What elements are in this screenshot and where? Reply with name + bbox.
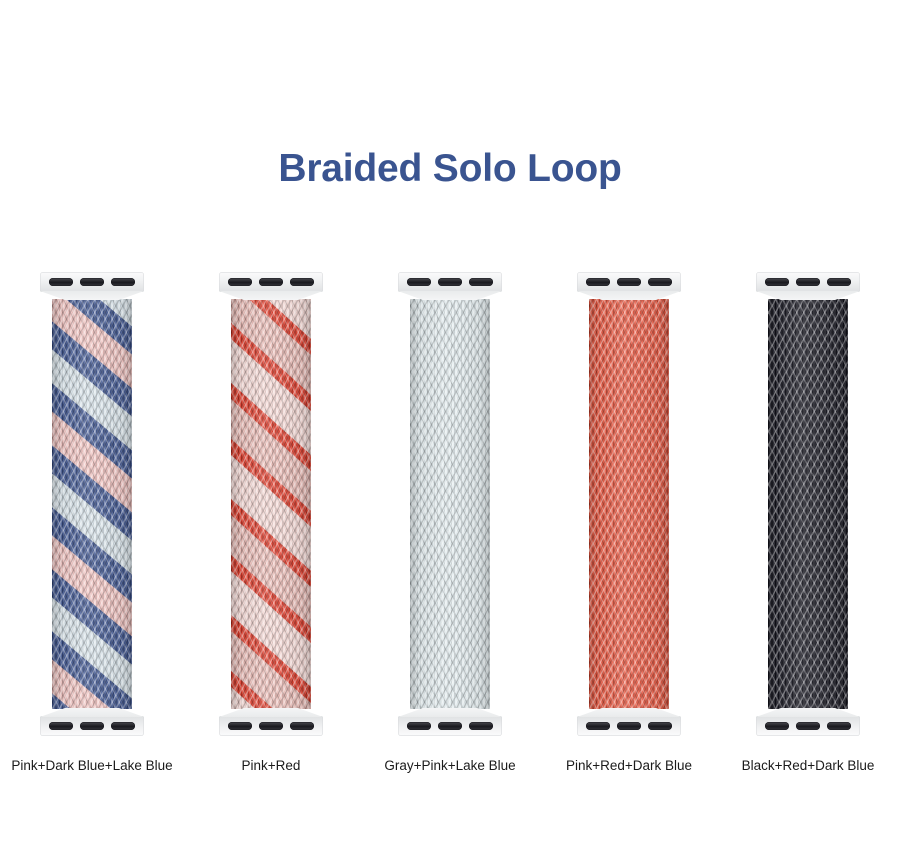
lug-slot-group bbox=[49, 722, 135, 730]
braid-color-field bbox=[410, 299, 490, 709]
product-card[interactable]: Black+Red+Dark Blue bbox=[722, 272, 894, 782]
band-lug-top bbox=[219, 272, 323, 299]
lug-skirt bbox=[40, 291, 144, 300]
braid-color-field bbox=[589, 299, 669, 709]
band-color-label: Pink+Red+Dark Blue bbox=[566, 758, 692, 775]
lug-slot-icon bbox=[407, 278, 431, 286]
lug-slot-group bbox=[765, 722, 851, 730]
lug-skirt bbox=[40, 708, 144, 717]
watch-band-4[interactable] bbox=[543, 272, 715, 736]
lug-slot-group bbox=[407, 722, 493, 730]
product-card[interactable]: Pink+Dark Blue+Lake Blue bbox=[6, 272, 178, 782]
braid-body bbox=[52, 299, 132, 709]
lug-slot-group bbox=[228, 278, 314, 286]
braid-color-field bbox=[52, 299, 132, 709]
braid-body bbox=[410, 299, 490, 709]
band-color-label: Pink+Red bbox=[242, 758, 301, 775]
product-card[interactable]: Pink+Red bbox=[185, 272, 357, 782]
band-lug-top bbox=[40, 272, 144, 299]
lug-skirt bbox=[219, 291, 323, 300]
lug-slot-icon bbox=[617, 722, 641, 730]
lug-skirt bbox=[398, 708, 502, 717]
lug-slot-icon bbox=[290, 722, 314, 730]
lug-skirt bbox=[756, 291, 860, 300]
product-card[interactable]: Pink+Red+Dark Blue bbox=[543, 272, 715, 782]
watch-band-3[interactable] bbox=[364, 272, 536, 736]
watch-band-2[interactable] bbox=[185, 272, 357, 736]
lug-slot-icon bbox=[827, 722, 851, 730]
lug-slot-group bbox=[765, 278, 851, 286]
band-lug-bottom bbox=[40, 709, 144, 736]
lug-slot-icon bbox=[111, 722, 135, 730]
lug-slot-icon bbox=[80, 722, 104, 730]
lug-slot-icon bbox=[228, 278, 252, 286]
band-lug-bottom bbox=[219, 709, 323, 736]
braid-color-field bbox=[231, 299, 311, 709]
lug-slot-icon bbox=[259, 278, 283, 286]
page-title: Braided Solo Loop bbox=[0, 148, 900, 191]
band-lug-top bbox=[577, 272, 681, 299]
lug-slot-icon bbox=[469, 722, 493, 730]
lug-slot-icon bbox=[438, 722, 462, 730]
lug-slot-icon bbox=[438, 278, 462, 286]
braid-body bbox=[589, 299, 669, 709]
lug-skirt bbox=[219, 708, 323, 717]
lug-slot-icon bbox=[648, 722, 672, 730]
band-lug-bottom bbox=[577, 709, 681, 736]
lug-slot-icon bbox=[796, 722, 820, 730]
lug-slot-group bbox=[586, 278, 672, 286]
lug-slot-icon bbox=[765, 722, 789, 730]
product-card[interactable]: Gray+Pink+Lake Blue bbox=[364, 272, 536, 782]
lug-slot-icon bbox=[49, 278, 73, 286]
lug-slot-icon bbox=[827, 278, 851, 286]
lug-slot-icon bbox=[648, 278, 672, 286]
band-lug-top bbox=[398, 272, 502, 299]
lug-skirt bbox=[577, 708, 681, 717]
braid-body bbox=[768, 299, 848, 709]
lug-slot-icon bbox=[765, 278, 789, 286]
band-lug-top bbox=[756, 272, 860, 299]
lug-slot-icon bbox=[259, 722, 283, 730]
lug-skirt bbox=[577, 291, 681, 300]
braid-body bbox=[231, 299, 311, 709]
lug-slot-icon bbox=[796, 278, 820, 286]
lug-slot-icon bbox=[617, 278, 641, 286]
lug-slot-icon bbox=[228, 722, 252, 730]
braid-color-field bbox=[768, 299, 848, 709]
band-lug-bottom bbox=[756, 709, 860, 736]
band-color-label: Black+Red+Dark Blue bbox=[742, 758, 875, 775]
lug-slot-group bbox=[407, 278, 493, 286]
band-color-label: Pink+Dark Blue+Lake Blue bbox=[11, 758, 172, 775]
watch-band-5[interactable] bbox=[722, 272, 894, 736]
lug-slot-icon bbox=[80, 278, 104, 286]
lug-slot-group bbox=[586, 722, 672, 730]
product-gallery: Pink+Dark Blue+Lake Blue bbox=[0, 272, 900, 782]
band-lug-bottom bbox=[398, 709, 502, 736]
band-color-label: Gray+Pink+Lake Blue bbox=[384, 758, 515, 775]
lug-slot-icon bbox=[407, 722, 431, 730]
lug-skirt bbox=[756, 708, 860, 717]
lug-slot-icon bbox=[586, 278, 610, 286]
lug-slot-icon bbox=[111, 278, 135, 286]
lug-slot-group bbox=[49, 278, 135, 286]
lug-skirt bbox=[398, 291, 502, 300]
lug-slot-group bbox=[228, 722, 314, 730]
lug-slot-icon bbox=[49, 722, 73, 730]
lug-slot-icon bbox=[586, 722, 610, 730]
watch-band-1[interactable] bbox=[6, 272, 178, 736]
lug-slot-icon bbox=[469, 278, 493, 286]
lug-slot-icon bbox=[290, 278, 314, 286]
